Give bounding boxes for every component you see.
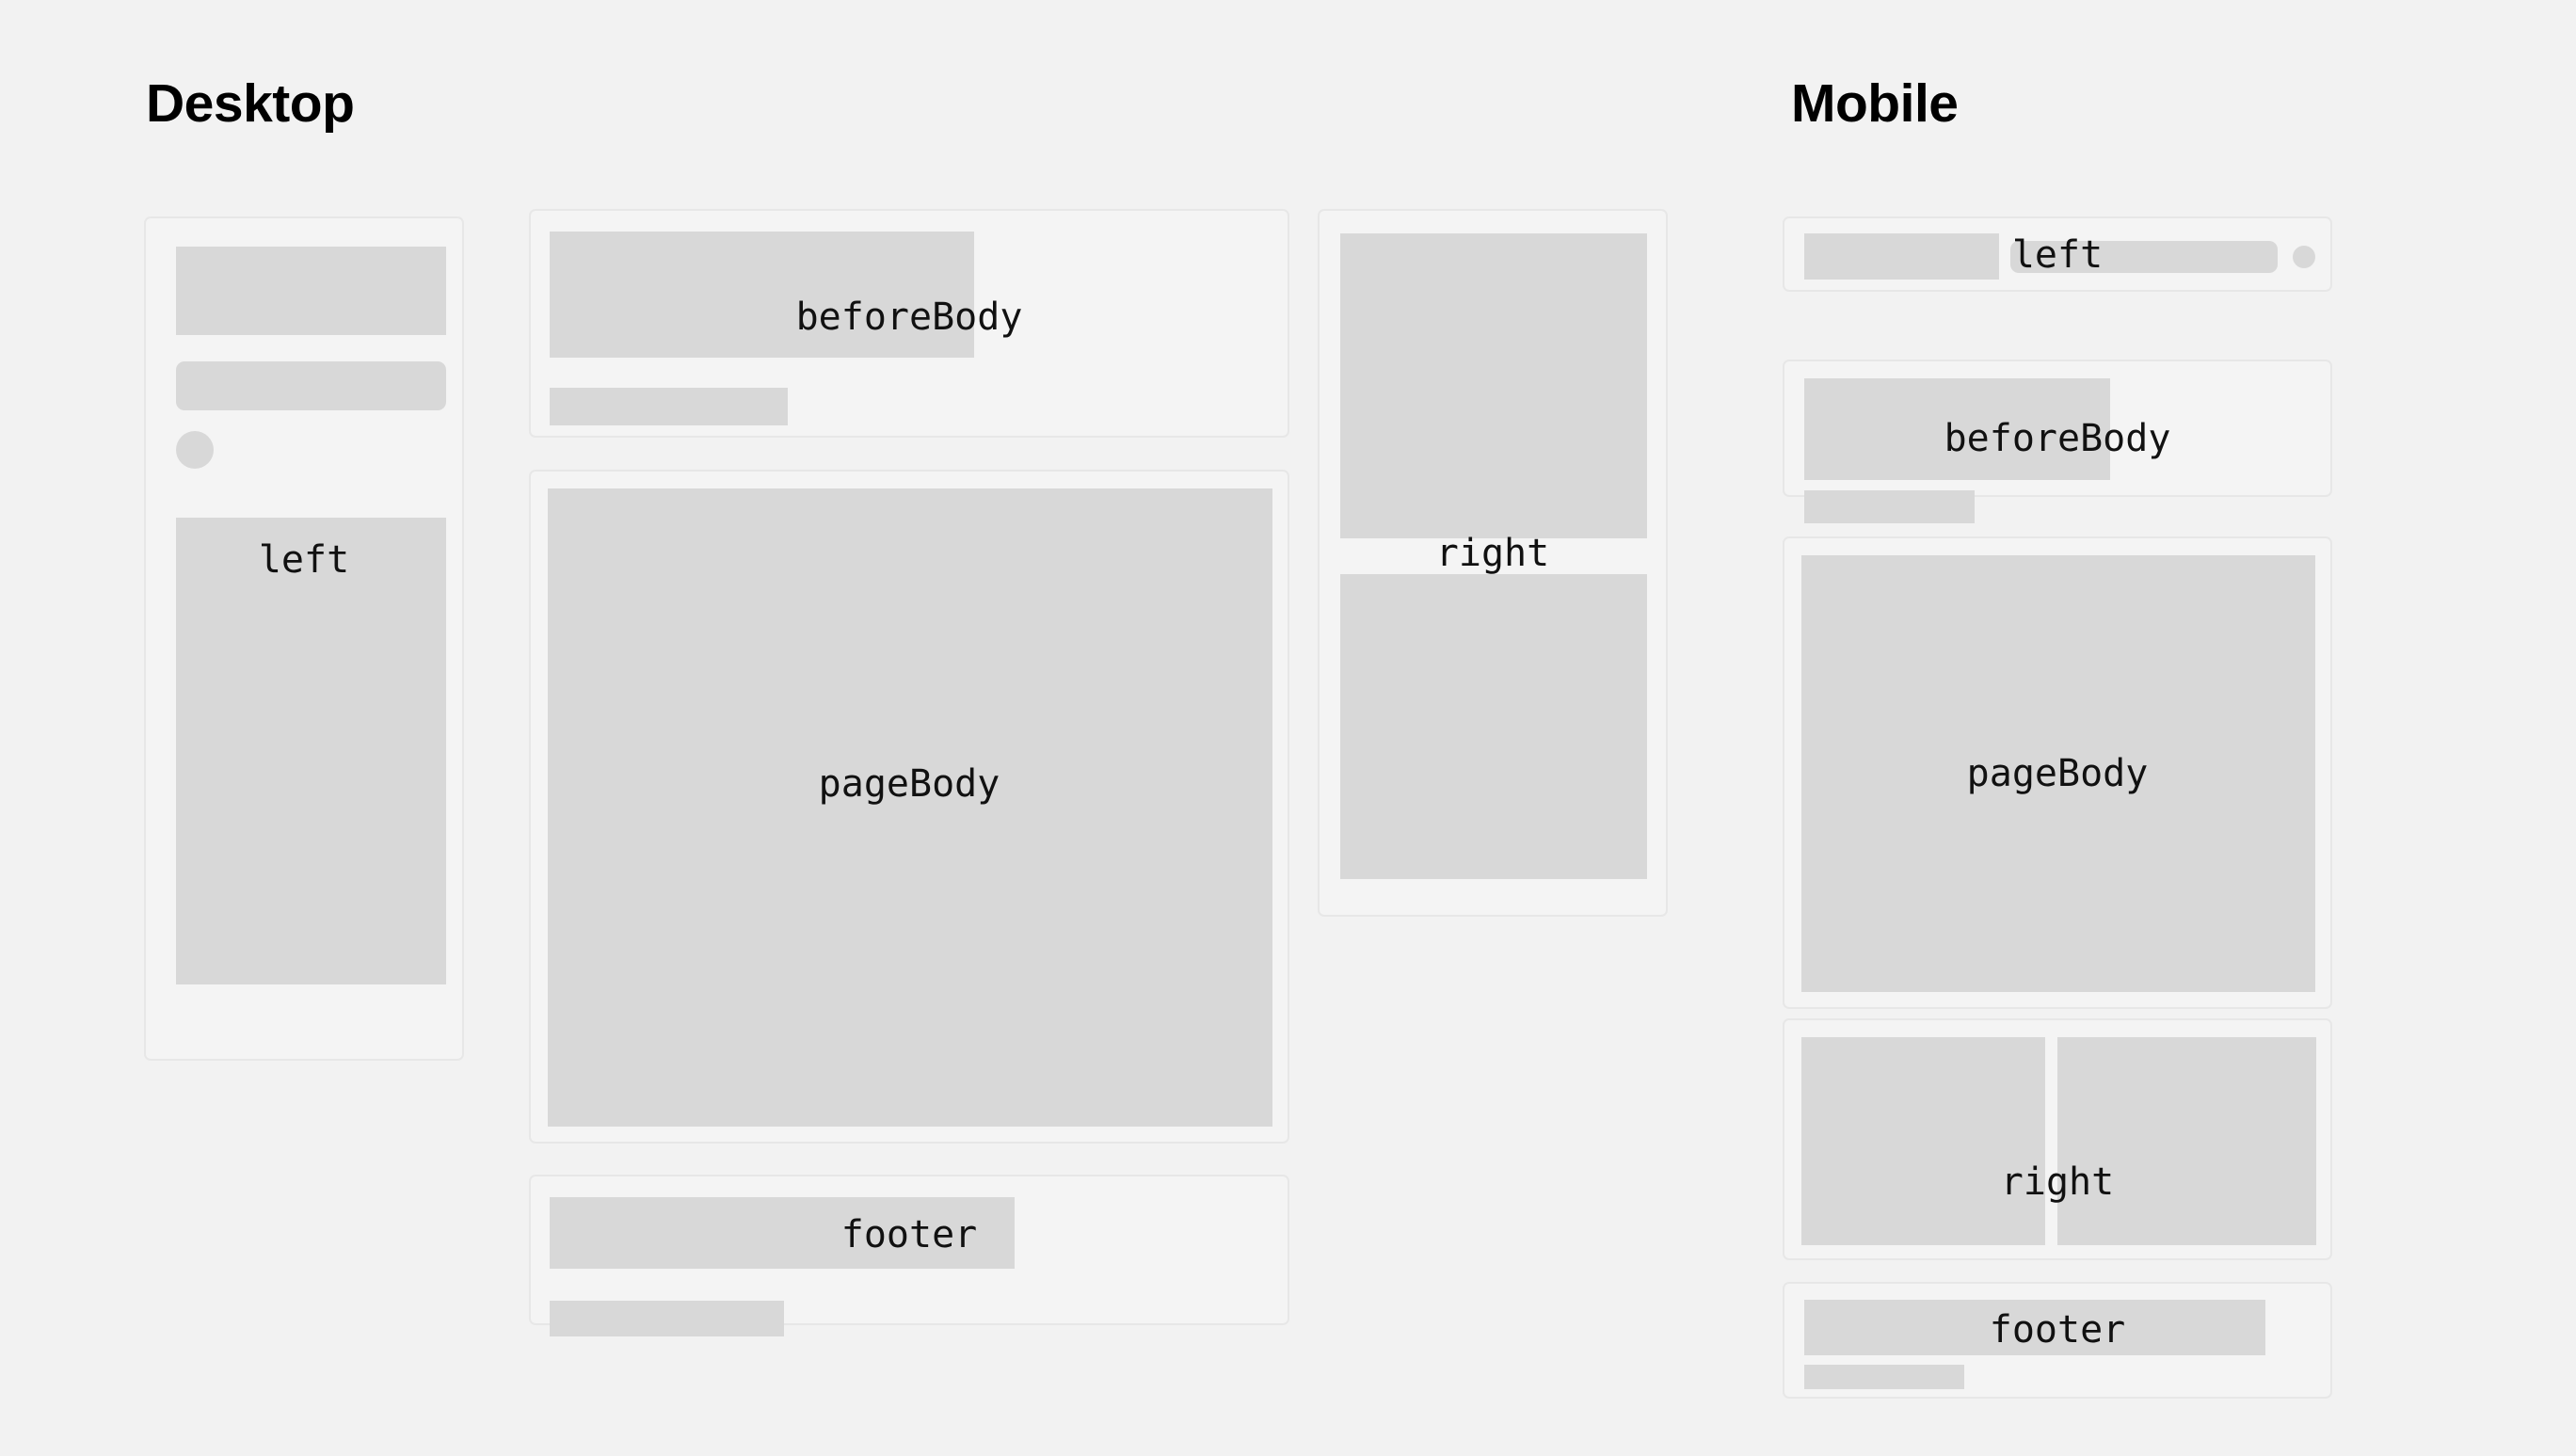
desktop-footer-region-card[interactable] — [529, 1175, 1289, 1325]
desktop-page-body-region-card[interactable] — [529, 470, 1289, 1144]
placeholder-panel — [1340, 574, 1647, 879]
desktop-left-region-card[interactable] — [144, 216, 464, 1061]
placeholder-panel — [2057, 1037, 2316, 1245]
desktop-right-region-card[interactable] — [1318, 209, 1668, 917]
placeholder-bar — [2010, 241, 2278, 273]
placeholder-panel — [1801, 555, 2315, 992]
placeholder-block — [1804, 1300, 2265, 1355]
mobile-section-title: Mobile — [1791, 77, 1959, 131]
mobile-page-body-region-card[interactable] — [1783, 536, 2332, 1009]
placeholder-avatar-circle — [176, 431, 214, 469]
placeholder-block — [550, 232, 974, 358]
placeholder-panel — [1340, 233, 1647, 538]
placeholder-panel — [548, 488, 1272, 1127]
placeholder-bar — [550, 1301, 784, 1336]
mobile-before-body-region-card[interactable] — [1783, 360, 2332, 497]
placeholder-panel — [1801, 1037, 2045, 1245]
placeholder-block — [1804, 378, 2110, 480]
placeholder-bar — [176, 361, 446, 410]
layout-preview-canvas: Desktop left beforeBody pageBody footer … — [0, 0, 2576, 1456]
placeholder-block — [176, 247, 446, 335]
desktop-section-title: Desktop — [146, 77, 354, 131]
mobile-footer-region-card[interactable] — [1783, 1282, 2332, 1399]
placeholder-block — [550, 1197, 1015, 1269]
placeholder-block — [1804, 233, 1999, 280]
placeholder-bar — [550, 388, 788, 425]
placeholder-avatar-circle — [2293, 246, 2315, 268]
placeholder-bar — [1804, 1365, 1964, 1389]
desktop-before-body-region-card[interactable] — [529, 209, 1289, 438]
mobile-left-region-card[interactable] — [1783, 216, 2332, 292]
mobile-right-region-card[interactable] — [1783, 1018, 2332, 1260]
placeholder-bar — [1804, 490, 1975, 523]
placeholder-panel — [176, 518, 446, 984]
